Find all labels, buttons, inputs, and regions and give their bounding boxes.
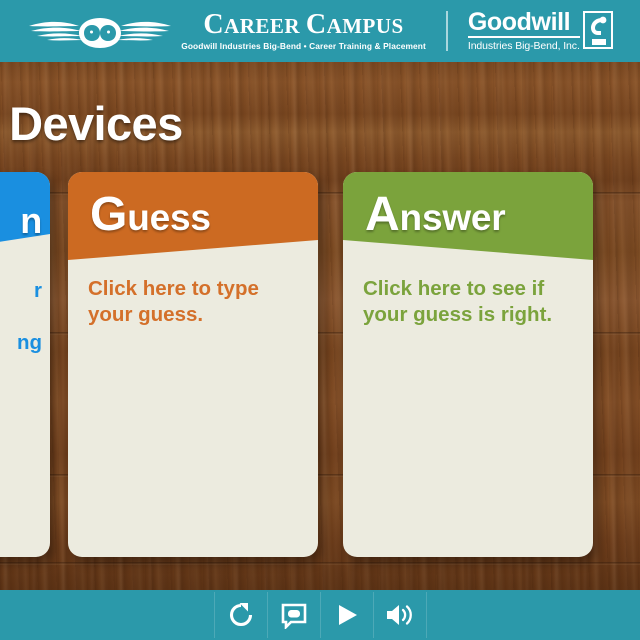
question-card-header: n <box>0 172 50 250</box>
goodwill-subtitle: Industries Big-Bend, Inc. <box>468 41 580 52</box>
answer-card-header: Answer <box>343 172 593 260</box>
career-campus-logo: CAREER CAMPUS Goodwill Industries Big-Be… <box>27 9 426 53</box>
goodwill-smiling-g-icon <box>583 11 613 49</box>
question-body-line-1: r <box>0 278 42 304</box>
question-body-line-2: ng <box>0 330 42 356</box>
question-card-body[interactable]: r ng <box>0 250 50 356</box>
brand-divider <box>446 11 448 51</box>
answer-card[interactable]: Answer Click here to see if your guess i… <box>343 172 593 557</box>
guess-body-line-1: Click here to type <box>88 276 298 302</box>
guess-card-title: Guess <box>68 172 318 238</box>
play-button[interactable] <box>320 592 373 638</box>
guess-card[interactable]: Guess Click here to type your guess. <box>68 172 318 557</box>
career-campus-title: CAREER CAMPUS <box>203 11 403 39</box>
player-control-bar <box>0 590 640 640</box>
volume-button[interactable] <box>373 592 427 638</box>
answer-card-body[interactable]: Click here to see if your guess is right… <box>343 260 593 328</box>
answer-body-line-2: your guess is right. <box>363 302 573 328</box>
answer-body-line-1: Click here to see if <box>363 276 573 302</box>
guess-card-header: Guess <box>68 172 318 260</box>
slide-stage: CAREER CAMPUS Goodwill Industries Big-Be… <box>0 0 640 640</box>
question-card-title: n <box>0 172 50 241</box>
career-campus-wordmark: CAREER CAMPUS Goodwill Industries Big-Be… <box>181 11 426 50</box>
owl-wings-icon <box>27 9 173 53</box>
volume-icon <box>385 601 415 629</box>
guess-card-body[interactable]: Click here to type your guess. <box>68 260 318 328</box>
guess-body-line-2: your guess. <box>88 302 298 328</box>
captions-button[interactable] <box>267 592 320 638</box>
play-icon <box>333 601 361 629</box>
question-card[interactable]: n r ng <box>0 172 50 557</box>
career-campus-tagline: Goodwill Industries Big-Bend • Career Tr… <box>181 42 426 50</box>
brand-header: CAREER CAMPUS Goodwill Industries Big-Be… <box>0 0 640 62</box>
replay-icon <box>227 601 255 629</box>
wood-plank-seam <box>0 562 640 565</box>
goodwill-title: Goodwill <box>468 10 580 38</box>
goodwill-logo: Goodwill Industries Big-Bend, Inc. <box>468 10 613 52</box>
replay-button[interactable] <box>214 592 267 638</box>
goodwill-wordmark: Goodwill Industries Big-Bend, Inc. <box>468 10 580 52</box>
speech-bubble-icon <box>280 601 308 629</box>
page-title: ing Devices <box>0 96 328 151</box>
answer-card-title: Answer <box>343 172 593 238</box>
